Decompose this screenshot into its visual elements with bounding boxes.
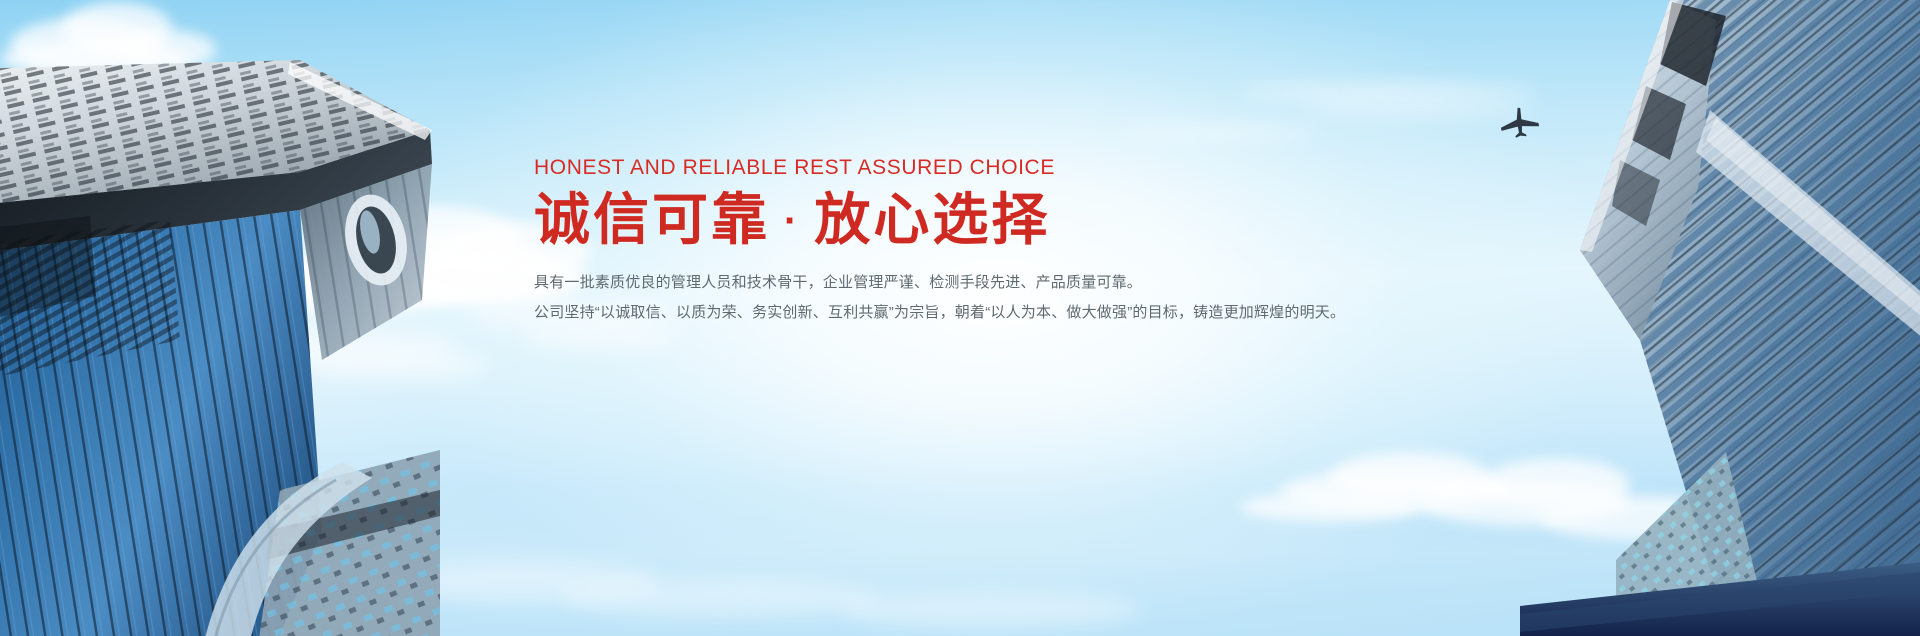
hero-banner: HONEST AND RELIABLE REST ASSURED CHOICE … (0, 0, 1920, 636)
airplane-icon (1496, 101, 1544, 141)
headline-part-2: 放心选择 (814, 188, 1050, 251)
headline-part-1: 诚信可靠 (534, 188, 770, 251)
headline-separator: · (770, 199, 814, 243)
banner-eyebrow: HONEST AND RELIABLE REST ASSURED CHOICE (534, 156, 1354, 179)
glass-skyscraper-left (0, 60, 440, 636)
cloud-shape (1120, 126, 1320, 138)
subcopy-line-1: 具有一批素质优良的管理人员和技术骨干，企业管理严谨、检测手段先进、产品质量可靠。 (534, 268, 1354, 298)
subcopy-line-2: 公司坚持“以诚取信、以质为荣、务实创新、互利共赢”为宗旨，朝着“以人为本、做大做… (534, 298, 1354, 328)
cloud-shape (520, 326, 680, 350)
banner-headline: 诚信可靠·放心选择 (534, 189, 1354, 252)
banner-copy: HONEST AND RELIABLE REST ASSURED CHOICE … (534, 156, 1354, 328)
cloud-shape (1240, 84, 1540, 100)
glass-skyscraper-right (1520, 0, 1920, 636)
banner-subcopy: 具有一批素质优良的管理人员和技术骨干，企业管理严谨、检测手段先进、产品质量可靠。… (534, 268, 1354, 328)
